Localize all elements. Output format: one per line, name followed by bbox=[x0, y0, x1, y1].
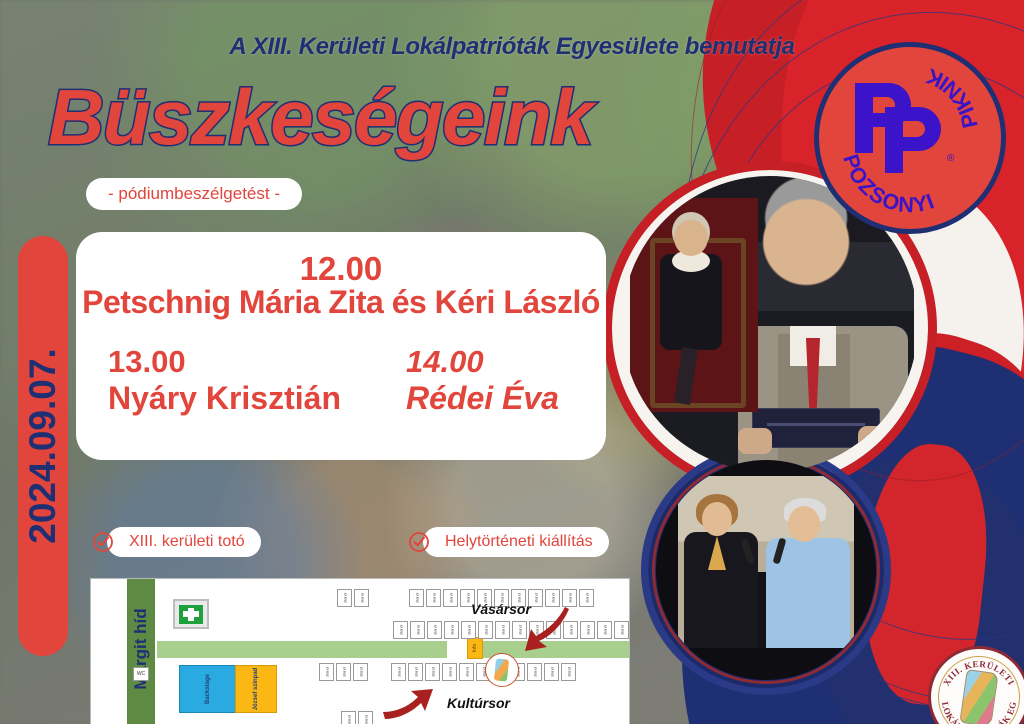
badge-toto: XIII. kerületi totó bbox=[92, 527, 261, 557]
venue-map: Margit híd WC Backstage József szinpad I… bbox=[90, 578, 630, 724]
map-stall-label: stand bbox=[602, 625, 607, 635]
map-block-stage-label: József szinpad bbox=[253, 668, 259, 711]
slot2-time: 13.00 bbox=[108, 344, 186, 380]
map-stall-label: stand bbox=[415, 625, 420, 635]
map-info-box-label: Info bbox=[472, 644, 478, 652]
event-poster: A XIII. Kerületi Lokálpatrióták Egyesüle… bbox=[0, 0, 1024, 724]
map-stall: stand bbox=[358, 711, 373, 724]
map-stall: stand bbox=[545, 589, 560, 607]
map-stall-label: stand bbox=[584, 593, 589, 603]
map-stall-label: stand bbox=[431, 593, 436, 603]
map-stall: stand bbox=[336, 663, 351, 681]
map-stall-label: stand bbox=[500, 625, 505, 635]
map-stall: stand bbox=[426, 589, 441, 607]
wc-marker: WC bbox=[133, 667, 149, 681]
map-stall: stand bbox=[427, 621, 442, 639]
slot1-time: 12.00 bbox=[76, 250, 606, 288]
map-stall-label: stand bbox=[550, 593, 555, 603]
map-stall: stand bbox=[614, 621, 629, 639]
map-stall: stand bbox=[425, 663, 440, 681]
district-seal-marker-icon bbox=[485, 653, 519, 687]
map-stall: stand bbox=[409, 589, 424, 607]
map-stall: stand bbox=[319, 663, 334, 681]
map-stall: stand bbox=[393, 621, 408, 639]
poster-title: Büszkeségeink bbox=[48, 78, 592, 156]
check-circle-icon bbox=[92, 531, 114, 553]
map-stall-label: stand bbox=[396, 667, 401, 677]
date-strip: 2024.09.07. bbox=[18, 236, 68, 656]
map-stall-label: stand bbox=[413, 667, 418, 677]
map-stall: stand bbox=[337, 589, 352, 607]
map-stall-label: stand bbox=[398, 625, 403, 635]
stall-row-bottom: standstand bbox=[341, 711, 373, 724]
map-stall: stand bbox=[461, 621, 476, 639]
pozsonyi-piknik-logo: ® POZSONYI PIKNIK bbox=[814, 42, 1006, 234]
badge-exhibition: Helytörténeti kiállítás bbox=[408, 527, 609, 557]
map-stall: stand bbox=[562, 589, 577, 607]
date-label: 2024.09.07. bbox=[22, 348, 64, 543]
map-stall: stand bbox=[442, 663, 457, 681]
map-label-vasarsor: Vásársor bbox=[471, 601, 531, 617]
seal-text-top: XIII. KERÜLETI bbox=[941, 659, 1016, 688]
map-stall-label: stand bbox=[549, 667, 554, 677]
map-stall-label: stand bbox=[363, 715, 368, 724]
map-stall-label: stand bbox=[432, 625, 437, 635]
map-stall: stand bbox=[443, 589, 458, 607]
man-head bbox=[788, 506, 820, 542]
map-stall: stand bbox=[527, 663, 542, 681]
street-band-left bbox=[157, 641, 447, 658]
map-stall-label: stand bbox=[448, 593, 453, 603]
podium-photo-background bbox=[678, 476, 854, 648]
map-stall: stand bbox=[354, 589, 369, 607]
map-stall-label: stand bbox=[483, 625, 488, 635]
logo-text-left: POZSONYI bbox=[838, 151, 938, 217]
stall-row-top-a: standstand bbox=[337, 589, 369, 607]
man-hand-left bbox=[738, 428, 772, 454]
woman-head bbox=[674, 220, 708, 256]
map-info-box: Info bbox=[467, 637, 483, 659]
stall-row-kulturfsor: standstandstandstandstandstandstandstand… bbox=[391, 663, 576, 681]
map-stall-label: stand bbox=[414, 593, 419, 603]
badge-toto-label: XIII. kerületi totó bbox=[107, 527, 261, 557]
map-stall-label: stand bbox=[358, 667, 363, 677]
map-stall: stand bbox=[495, 621, 510, 639]
map-stall: stand bbox=[341, 711, 356, 724]
podium-talk-photo bbox=[656, 460, 876, 680]
map-stall-label: stand bbox=[567, 593, 572, 603]
poster-subtitle-pill: - pódiumbeszélgetést - bbox=[86, 178, 302, 210]
map-stall-label: stand bbox=[324, 667, 329, 677]
margit-bridge-band: Margit híd bbox=[127, 579, 155, 724]
slot3-time: 14.00 bbox=[406, 344, 484, 380]
map-stall-label: stand bbox=[619, 625, 624, 635]
map-stall-label: stand bbox=[585, 625, 590, 635]
map-stall: stand bbox=[408, 663, 423, 681]
map-block-backstage: Backstage bbox=[179, 665, 237, 713]
woman-head bbox=[702, 502, 732, 536]
logo-text-right: PIKNIK bbox=[921, 63, 982, 130]
map-stall-label: stand bbox=[517, 625, 522, 635]
map-stall-label: stand bbox=[341, 667, 346, 677]
map-label-kulturfsor: Kultúrsor bbox=[447, 695, 510, 711]
map-stall: stand bbox=[391, 663, 406, 681]
stall-row-mid-left: standstandstand bbox=[319, 663, 368, 681]
map-stall: stand bbox=[353, 663, 368, 681]
red-arrow-icon bbox=[523, 607, 575, 653]
map-stall: stand bbox=[478, 621, 493, 639]
map-stall-label: stand bbox=[566, 667, 571, 677]
check-circle-icon bbox=[408, 531, 430, 553]
map-stall: stand bbox=[579, 589, 594, 607]
map-stall-label: stand bbox=[533, 593, 538, 603]
map-block-backstage-label: Backstage bbox=[205, 674, 211, 704]
map-stall: stand bbox=[561, 663, 576, 681]
map-stall-label: stand bbox=[465, 593, 470, 603]
map-stall: stand bbox=[410, 621, 425, 639]
seal-arc-text: XIII. KERÜLETI LOKÁLPATRIÓTÁK EGYESÜLETE bbox=[931, 649, 1024, 724]
first-aid-cross-icon bbox=[173, 599, 209, 629]
badge-exhibition-label: Helytörténeti kiállítás bbox=[423, 527, 609, 557]
schedule-card: 12.00 Petschnig Mária Zita és Kéri Lászl… bbox=[76, 232, 606, 460]
map-stall-label: stand bbox=[359, 593, 364, 603]
red-arrow-icon bbox=[381, 683, 433, 723]
map-stall-label: stand bbox=[464, 667, 469, 677]
map-stall-label: stand bbox=[447, 667, 452, 677]
stall-row-vasarsor: standstandstandstandstandstandstandstand… bbox=[393, 621, 630, 639]
logo-arc-text: POZSONYI PIKNIK bbox=[819, 47, 1001, 229]
map-stall-label: stand bbox=[449, 625, 454, 635]
map-stall: stand bbox=[459, 663, 474, 681]
map-block-stage: József szinpad bbox=[235, 665, 277, 713]
association-seal: XIII. KERÜLETI LOKÁLPATRIÓTÁK EGYESÜLETE bbox=[928, 646, 1024, 724]
map-stall-label: stand bbox=[430, 667, 435, 677]
slot2-names: Nyáry Krisztián bbox=[108, 380, 341, 417]
map-stall: stand bbox=[597, 621, 612, 639]
map-stall: stand bbox=[580, 621, 595, 639]
slot3-names: Rédei Éva bbox=[406, 380, 559, 417]
map-stall: stand bbox=[444, 621, 459, 639]
map-stall: stand bbox=[544, 663, 559, 681]
map-stall-label: stand bbox=[342, 593, 347, 603]
map-stall-label: stand bbox=[532, 667, 537, 677]
map-stall-label: stand bbox=[346, 715, 351, 724]
slot1-names: Petschnig Mária Zita és Kéri László bbox=[76, 284, 606, 321]
map-stall-label: stand bbox=[466, 625, 471, 635]
